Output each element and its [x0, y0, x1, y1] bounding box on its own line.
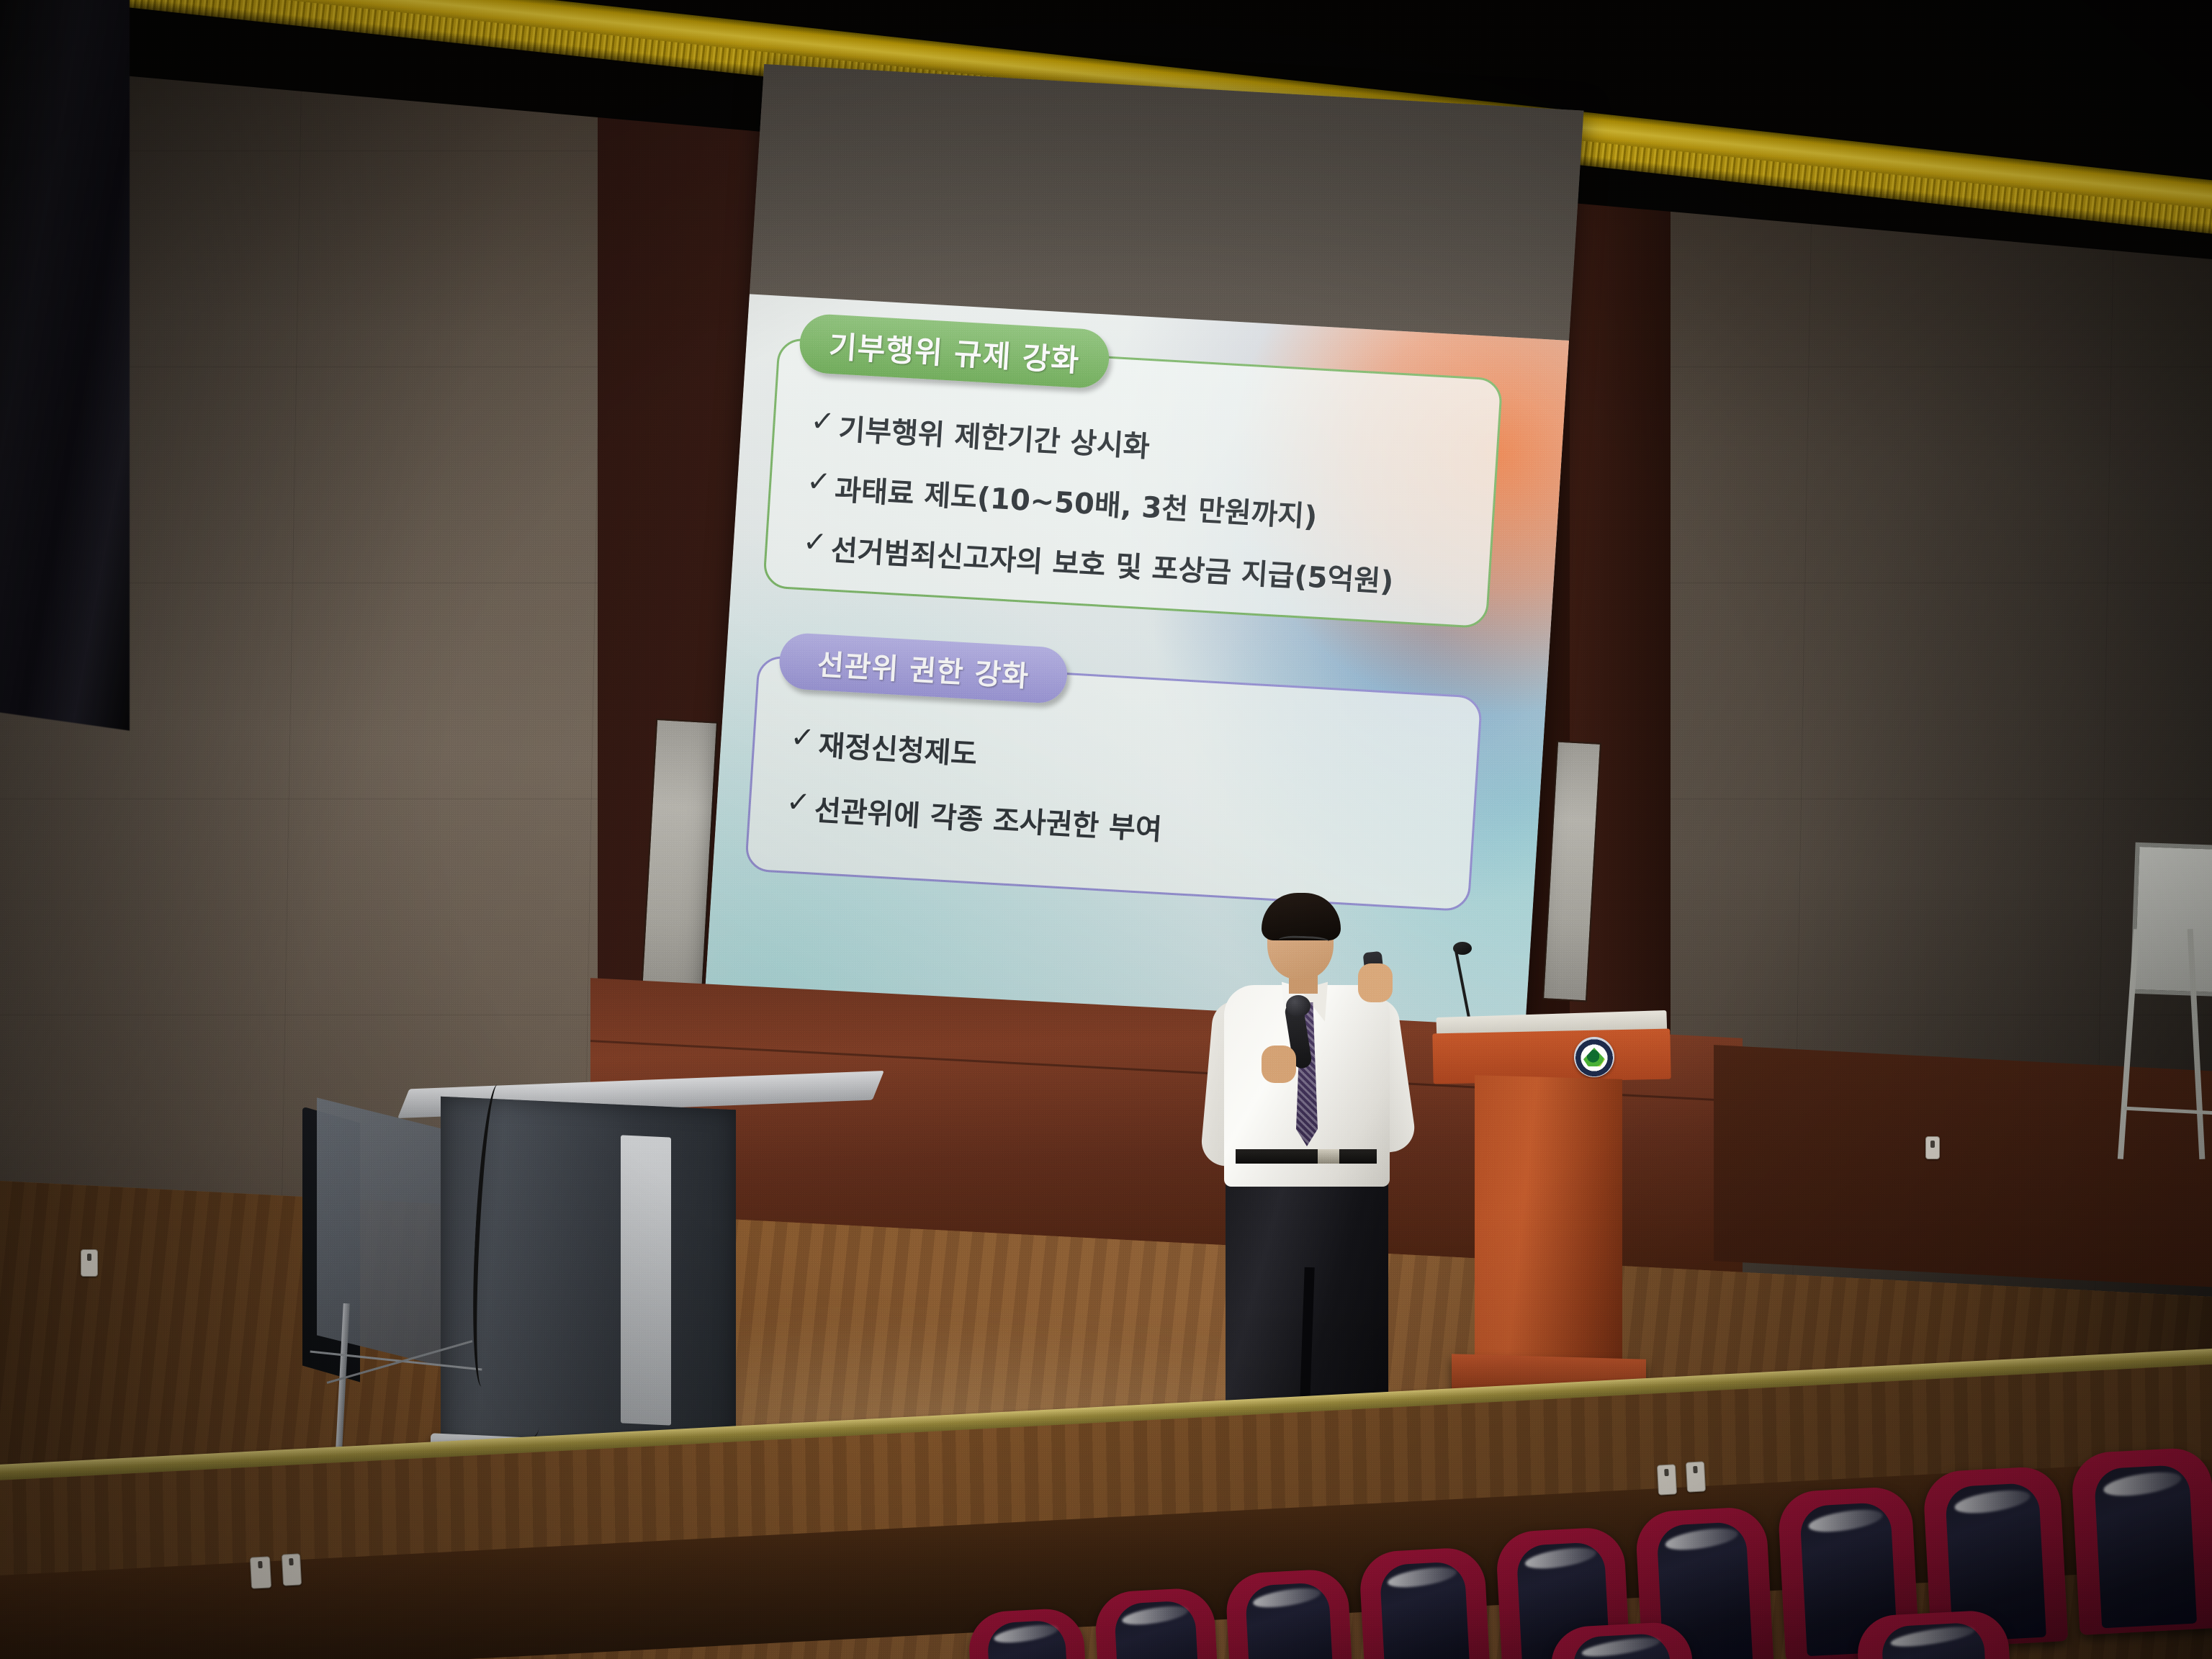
- checkmark-icon: ✓: [786, 785, 811, 819]
- checkmark-icon: ✓: [802, 525, 828, 559]
- seat[interactable]: [1359, 1547, 1492, 1659]
- gooseneck-mic-head-icon: [1453, 942, 1472, 955]
- presentation-slide: 기부행위 규제 강화 ✓ 기부행위 제한기간 상시화 ✓ 과태료 제도(10~5…: [703, 294, 1569, 1066]
- flipchart-board: [2130, 842, 2212, 997]
- slide-bullet-donation-2: ✓ 과태료 제도(10~50배, 3천 만원까지): [805, 464, 1318, 535]
- projection-screen: 기부행위 규제 강화 ✓ 기부행위 제한기간 상시화 ✓ 과태료 제도(10~5…: [703, 64, 1584, 1066]
- glasses-icon: [1279, 935, 1330, 948]
- slide-card-donation: [763, 338, 1503, 629]
- seat[interactable]: [2071, 1447, 2212, 1635]
- lectern-accent-stripe: [621, 1135, 671, 1425]
- microphone-head-icon: [1286, 995, 1310, 1017]
- seat[interactable]: [1094, 1587, 1220, 1659]
- slide-header-commission: 선관위 권한 강화: [778, 632, 1069, 705]
- slide-bullet-text: 선관위에 각종 조사권한 부여: [813, 787, 1163, 848]
- presenter-belt-buckle: [1318, 1149, 1339, 1164]
- chair-behind-lectern: [317, 1097, 454, 1369]
- wainscot-panel-right: [1714, 1045, 2212, 1288]
- stage-curtain-left: [0, 0, 130, 731]
- checkmark-icon: ✓: [789, 721, 815, 755]
- seat[interactable]: [967, 1607, 1089, 1659]
- podium-emblem-icon: [1574, 1037, 1614, 1077]
- slide-bullet-text: 기부행위 제한기간 상시화: [837, 406, 1151, 465]
- slide-header-donation: 기부행위 규제 강화: [798, 313, 1111, 390]
- podium-front-fascia[interactable]: [1432, 1029, 1671, 1084]
- presenter-belt: [1236, 1149, 1377, 1164]
- slide-bullet-donation-1: ✓ 기부행위 제한기간 상시화: [809, 405, 1151, 466]
- screen-surface: 기부행위 규제 강화 ✓ 기부행위 제한기간 상시화 ✓ 과태료 제도(10~5…: [703, 64, 1584, 1066]
- checkmark-icon: ✓: [806, 464, 832, 499]
- audience-seat-row: [0, 1469, 2212, 1659]
- presenter-hand-right: [1358, 963, 1393, 1002]
- slide-bullet-text: 선거범죄신고자의 보호 및 포상금 지급(5억원): [829, 526, 1395, 600]
- seat[interactable]: [1550, 1621, 1697, 1659]
- checkmark-icon: ✓: [809, 405, 835, 439]
- slide-bullet-text: 재정신청제도: [817, 722, 979, 773]
- wall-outlet-right: [1925, 1136, 1940, 1159]
- wall-outlet-left: [81, 1249, 98, 1277]
- podium-column: [1475, 1075, 1622, 1382]
- slide-bullet-commission-1: ✓ 재정신청제도: [789, 721, 979, 773]
- presenter-hand-left: [1262, 1046, 1296, 1083]
- slide-bullet-commission-2: ✓ 선관위에 각종 조사권한 부여: [785, 785, 1164, 848]
- seat[interactable]: [1856, 1609, 2013, 1659]
- auditorium-scene: 기부행위 규제 강화 ✓ 기부행위 제한기간 상시화 ✓ 과태료 제도(10~5…: [0, 0, 2212, 1659]
- slide-bullet-text: 과태료 제도(10~50배, 3천 만원까지): [834, 467, 1319, 536]
- seat[interactable]: [1225, 1568, 1354, 1659]
- slide-card-commission: [745, 655, 1483, 912]
- slide-bullet-donation-3: ✓ 선거범죄신고자의 보호 및 포상금 지급(5억원): [801, 525, 1395, 600]
